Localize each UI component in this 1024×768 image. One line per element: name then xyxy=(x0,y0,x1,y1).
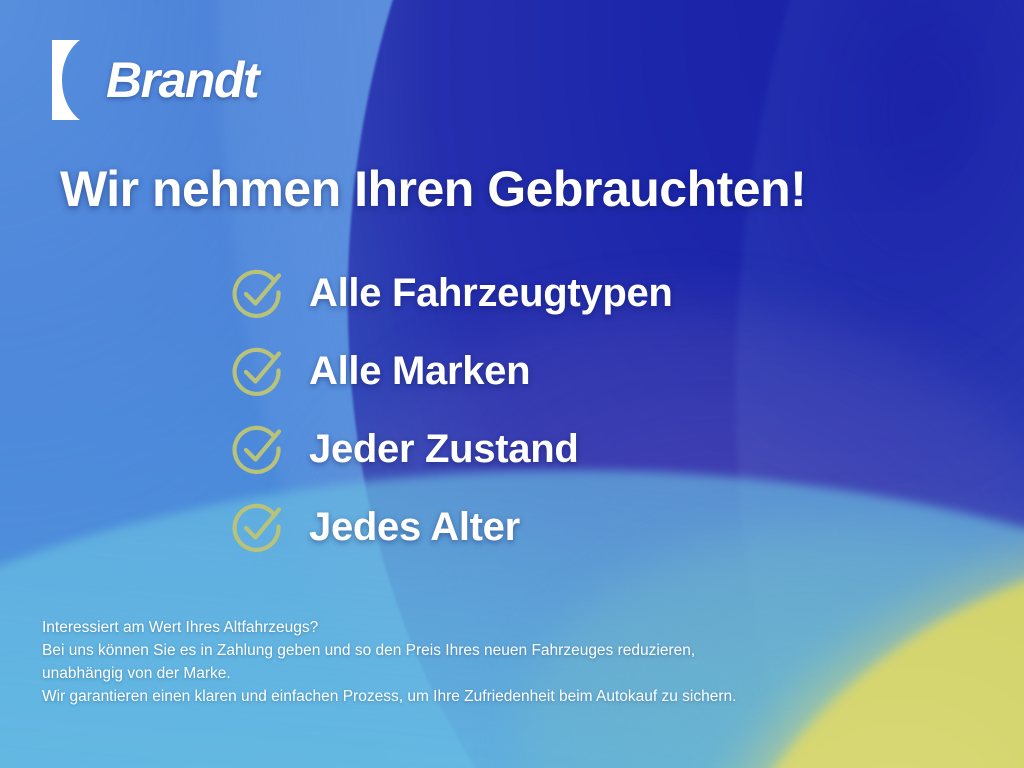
list-item: Jedes Alter xyxy=(232,496,673,558)
body-copy-line-4: Wir garantieren einen klaren und einfach… xyxy=(42,685,942,708)
list-item: Jeder Zustand xyxy=(232,418,673,480)
promo-banner: Brandt Wir nehmen Ihren Gebrauchten! All… xyxy=(0,0,1024,768)
body-copy-line-2: Bei uns können Sie es in Zahlung geben u… xyxy=(42,639,942,662)
page-title: Wir nehmen Ihren Gebrauchten! xyxy=(60,160,806,218)
list-item: Alle Fahrzeugtypen xyxy=(232,262,673,324)
body-copy-line-3: unabhängig von der Marke. xyxy=(42,662,942,685)
circle-check-icon xyxy=(232,267,284,319)
body-copy: Interessiert am Wert Ihres Altfahrzeugs?… xyxy=(42,616,942,708)
brand-wordmark: Brandt xyxy=(106,55,258,105)
brand-logo[interactable]: Brandt xyxy=(50,38,258,122)
circle-check-icon xyxy=(232,345,284,397)
circle-check-icon xyxy=(232,423,284,475)
list-item-label: Jedes Alter xyxy=(309,505,520,550)
list-item-label: Alle Fahrzeugtypen xyxy=(309,271,673,316)
body-copy-line-1: Interessiert am Wert Ihres Altfahrzeugs? xyxy=(42,616,942,639)
feature-list: Alle Fahrzeugtypen Alle Marken Jeder Zus… xyxy=(232,262,673,558)
list-item: Alle Marken xyxy=(232,340,673,402)
list-item-label: Alle Marken xyxy=(309,349,530,394)
list-item-label: Jeder Zustand xyxy=(309,427,579,472)
circle-check-icon xyxy=(232,501,284,553)
brandt-crescent-mark-icon xyxy=(50,38,96,122)
